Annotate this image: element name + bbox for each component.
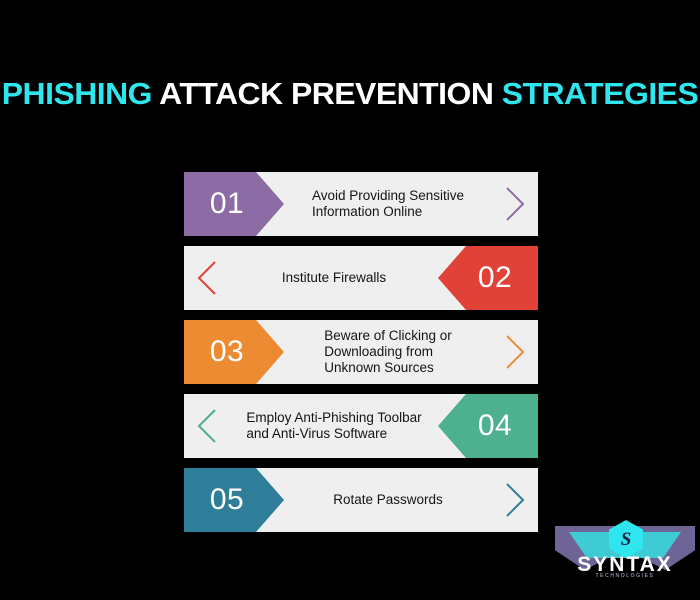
chevron-right-icon — [492, 468, 538, 532]
step-number: 02 — [478, 261, 512, 295]
step-label-line: Downloading from — [324, 344, 433, 359]
step-number-block: 05 — [184, 468, 284, 532]
step-label-line: Avoid Providing Sensitive — [312, 188, 464, 203]
page-title: PHISHING ATTACK PREVENTION STRATEGIES — [0, 78, 700, 109]
step-card: Employ Anti-Phishing Toolbar and Anti-Vi… — [184, 394, 538, 458]
chevron-left-icon — [184, 246, 230, 310]
step-label-line: Institute Firewalls — [282, 270, 386, 285]
step-row-05[interactable]: 05 Rotate Passwords — [184, 468, 538, 532]
step-label: Avoid Providing Sensitive Information On… — [284, 172, 492, 236]
step-label-line: Unknown Sources — [324, 360, 434, 375]
title-segment-3: STRATEGIES — [502, 76, 699, 111]
step-number: 01 — [210, 187, 244, 221]
title-segment-1: PHISHING — [2, 76, 152, 111]
title-segment-2: ATTACK PREVENTION — [152, 76, 502, 111]
step-number-block: 03 — [184, 320, 284, 384]
step-label-line: and Anti-Virus Software — [246, 426, 387, 441]
step-number: 04 — [478, 409, 512, 443]
step-card: 05 Rotate Passwords — [184, 468, 538, 532]
step-label: Institute Firewalls — [230, 246, 438, 310]
step-number-block: 01 — [184, 172, 284, 236]
chevron-right-icon — [492, 172, 538, 236]
step-number-block: 02 — [438, 246, 538, 310]
logo-brand-name: SYNTAX — [553, 554, 697, 575]
step-row-01[interactable]: 01 Avoid Providing Sensitive Information… — [184, 172, 538, 236]
step-row-02[interactable]: Institute Firewalls 02 — [184, 246, 538, 310]
step-label-line: Information Online — [312, 204, 422, 219]
step-row-03[interactable]: 03 Beware of Clicking or Downloading fro… — [184, 320, 538, 384]
step-label: Employ Anti-Phishing Toolbar and Anti-Vi… — [230, 394, 438, 458]
step-card: 03 Beware of Clicking or Downloading fro… — [184, 320, 538, 384]
step-number: 03 — [210, 335, 244, 369]
chevron-left-icon — [184, 394, 230, 458]
step-label-line: Rotate Passwords — [333, 492, 443, 507]
step-row-04[interactable]: Employ Anti-Phishing Toolbar and Anti-Vi… — [184, 394, 538, 458]
title-text: PHISHING ATTACK PREVENTION STRATEGIES — [0, 78, 700, 109]
step-number-block: 04 — [438, 394, 538, 458]
step-card: Institute Firewalls 02 — [184, 246, 538, 310]
steps-list: 01 Avoid Providing Sensitive Information… — [184, 172, 538, 532]
step-label-line: Beware of Clicking or — [324, 328, 452, 343]
step-number: 05 — [210, 483, 244, 517]
logo-tagline: TECHNOLOGIES — [553, 574, 697, 579]
step-label-line: Employ Anti-Phishing Toolbar — [246, 410, 421, 425]
step-label: Rotate Passwords — [284, 468, 492, 532]
chevron-right-icon — [492, 320, 538, 384]
step-label: Beware of Clicking or Downloading from U… — [284, 320, 492, 384]
logo-mark-letter: S — [621, 530, 632, 549]
step-card: 01 Avoid Providing Sensitive Information… — [184, 172, 538, 236]
syntax-logo: S SYNTAX TECHNOLOGIES — [553, 518, 697, 584]
